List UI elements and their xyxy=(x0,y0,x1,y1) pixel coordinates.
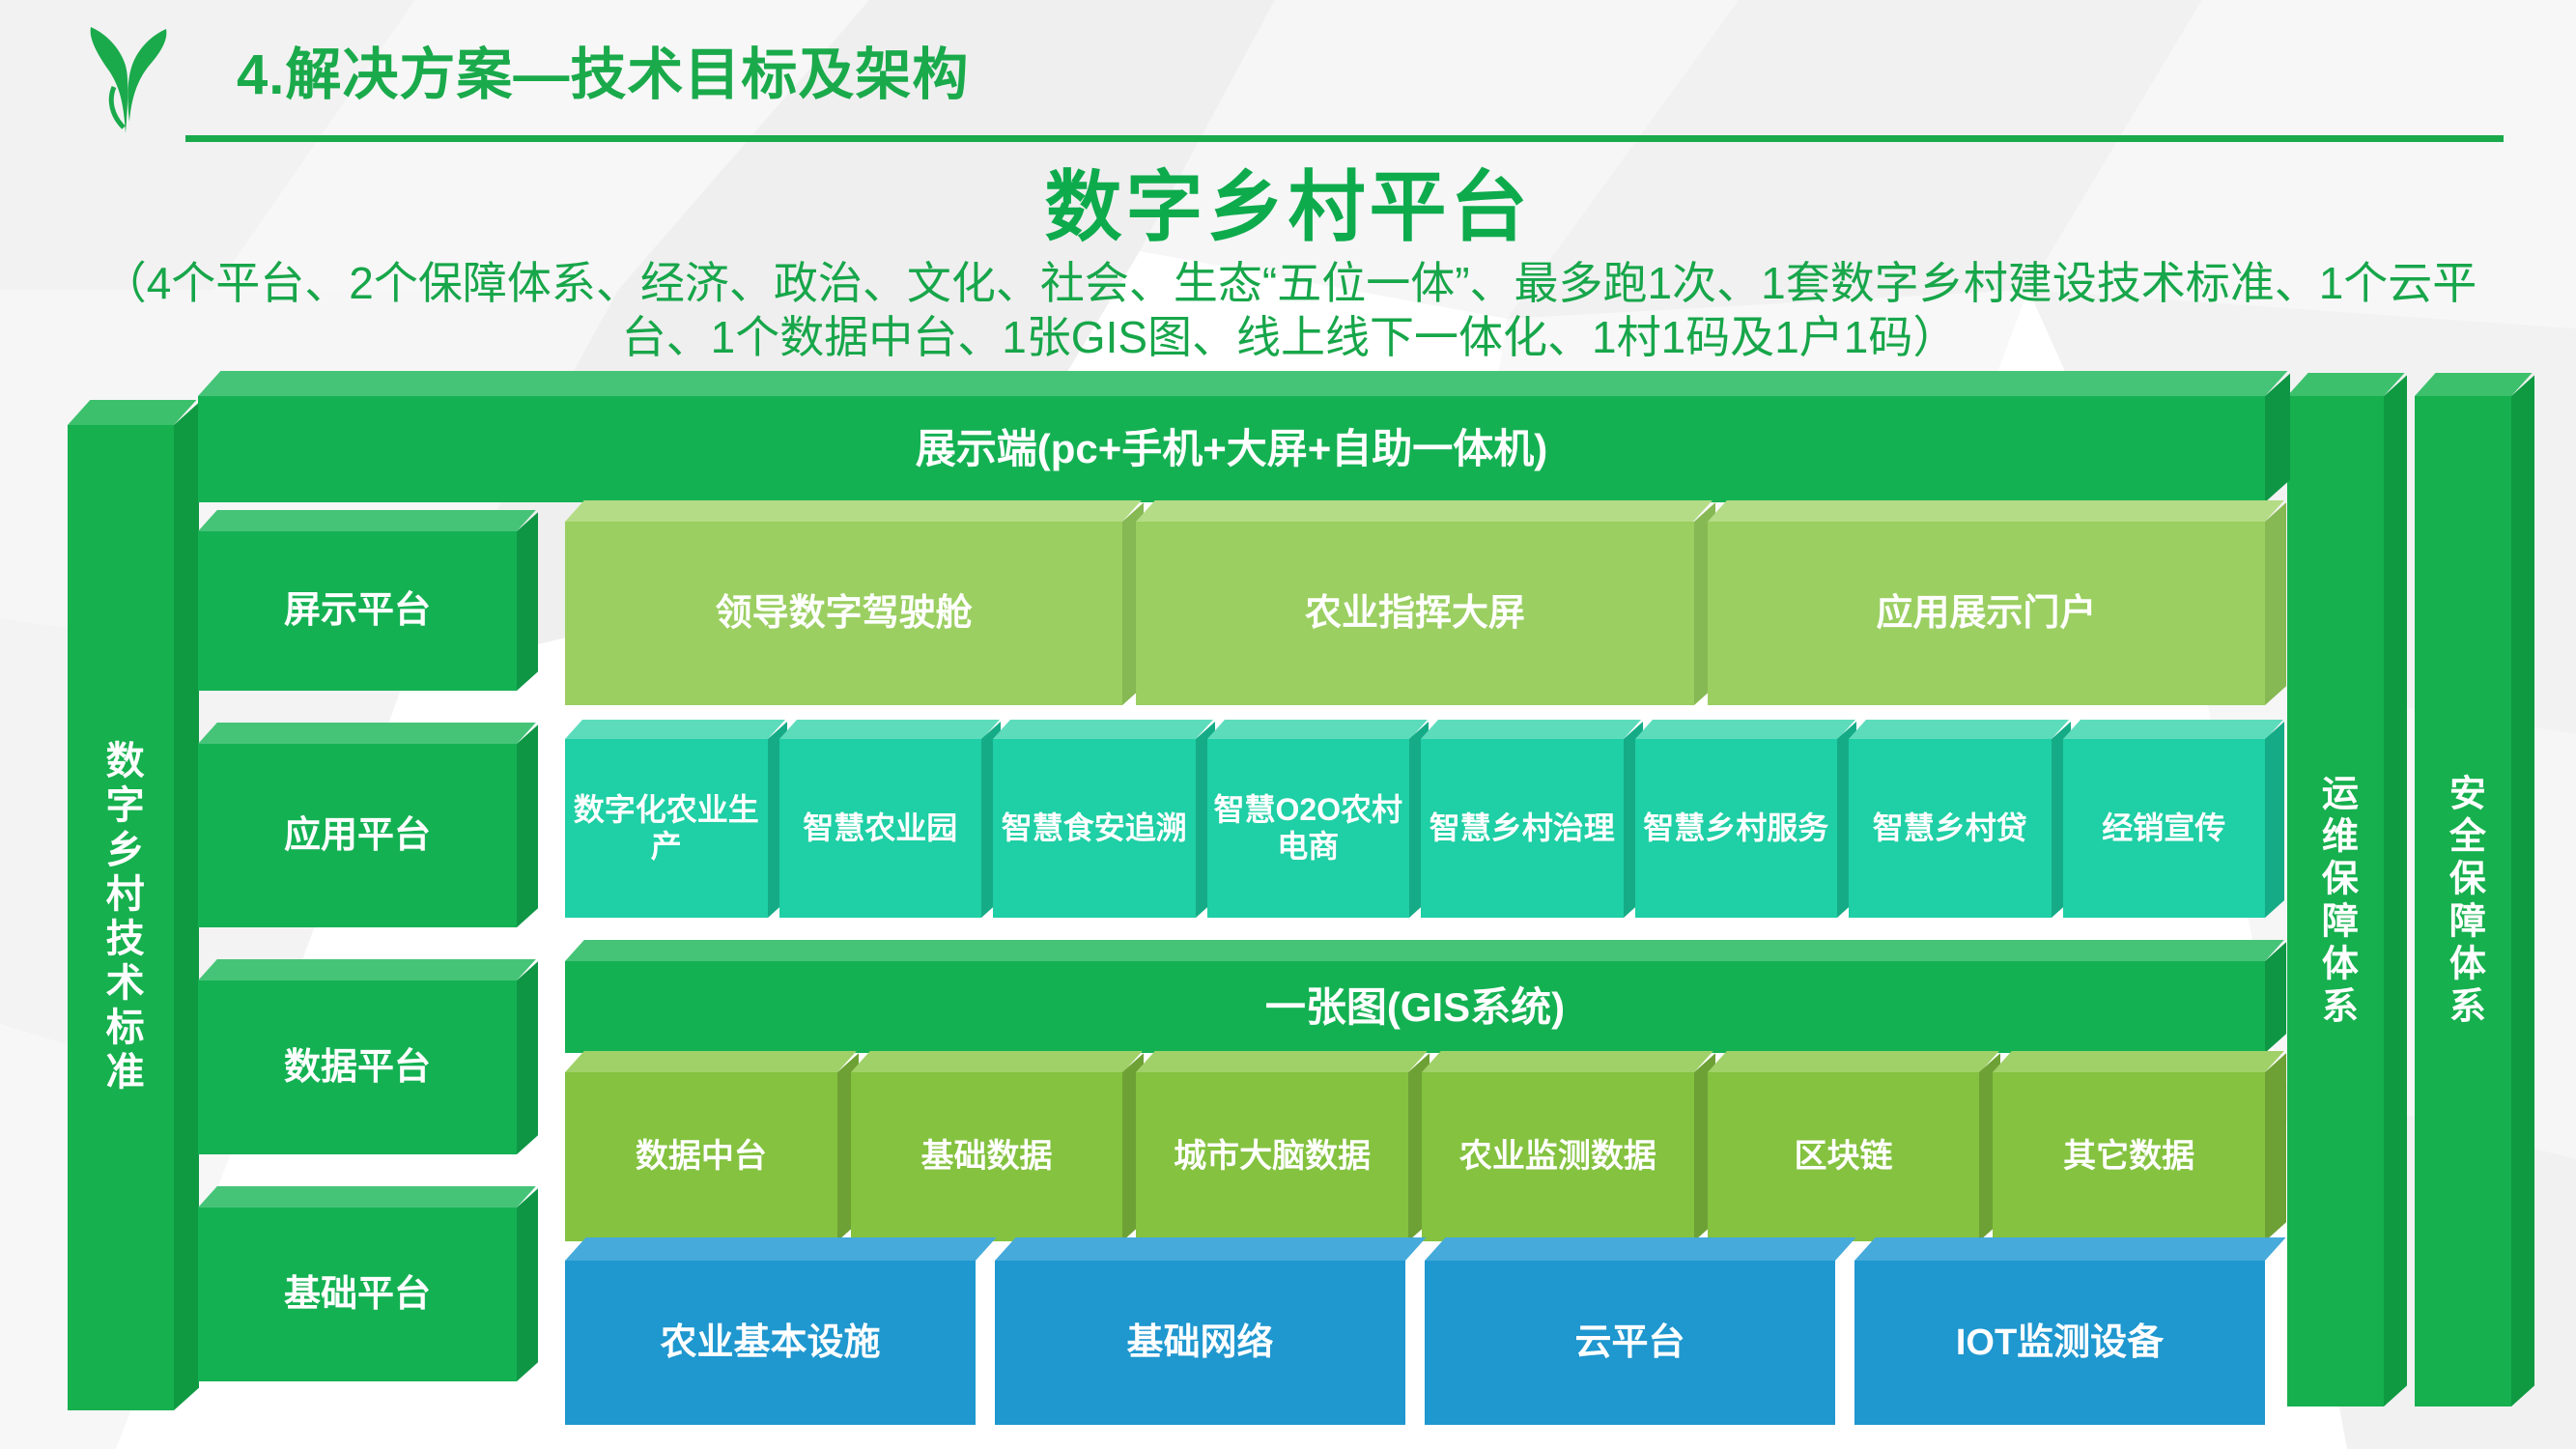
base-platform-tile[interactable]: 云平台 xyxy=(1425,1261,1835,1425)
data-platform-tile-label: 其它数据 xyxy=(2063,1137,2194,1176)
tile-top-bevel xyxy=(1849,720,2069,739)
tile-top-bevel xyxy=(565,1237,997,1261)
pillar-tech-standard-label: 数字乡村技术标准 xyxy=(98,740,143,1095)
tile-top-bevel xyxy=(1708,1051,1998,1072)
tile-top-bevel xyxy=(1635,720,1855,739)
layer-label-data-platform[interactable]: 数据平台 xyxy=(198,980,517,1154)
data-platform-tile-label: 区块链 xyxy=(1794,1137,1892,1176)
page-title: 4.解决方案—技术目标及架构 xyxy=(237,29,969,110)
subtitle-text: （4个平台、2个保障体系、经济、政治、文化、社会、生态“五位一体”、最多跑1次、… xyxy=(92,256,2487,364)
layer-label-display-platform[interactable]: 屏示平台 xyxy=(198,531,517,691)
layer-label-display-platform-text: 屏示平台 xyxy=(284,589,431,633)
layer-label-base-platform[interactable]: 基础平台 xyxy=(198,1207,517,1381)
base-platform-tile-label: IOT监测设备 xyxy=(1956,1321,2164,1365)
layer-label-base-platform-text: 基础平台 xyxy=(284,1273,431,1317)
tile-side-bevel xyxy=(2265,1239,2288,1425)
display-platform-tile-label: 农业指挥大屏 xyxy=(1305,592,1525,636)
banner-display-terminal-label: 展示端(pc+手机+大屏+自助一体机) xyxy=(916,425,1548,473)
base-platform-tile-label: 云平台 xyxy=(1574,1321,1684,1365)
application-platform-tile-label: 智慧乡村贷 xyxy=(1873,810,2027,847)
data-platform-tile-label: 基础数据 xyxy=(920,1137,1052,1176)
tile-top-bevel xyxy=(565,720,785,739)
pillar-ops-guarantee-label: 运维保障体系 xyxy=(2314,774,2358,1029)
tile-top-bevel xyxy=(1708,500,2284,522)
application-platform-tile[interactable]: 智慧乡村服务 xyxy=(1635,739,1838,918)
slide-header: 4.解决方案—技术目标及架构 xyxy=(0,0,2576,155)
data-platform-tile-label: 城市大脑数据 xyxy=(1174,1137,1371,1176)
base-platform-tile-label: 基础网络 xyxy=(1126,1321,1273,1365)
pillar-tech-standard[interactable]: 数字乡村技术标准 xyxy=(68,425,174,1410)
layer-label-application-platform[interactable]: 应用平台 xyxy=(198,744,517,927)
tile-top-bevel xyxy=(1136,500,1713,522)
application-platform-tile[interactable]: 智慧乡村贷 xyxy=(1849,739,2052,918)
tile-top-bevel xyxy=(995,1237,1427,1261)
data-platform-tile[interactable]: 农业监测数据 xyxy=(1422,1072,1694,1241)
base-platform-tile[interactable]: IOT监测设备 xyxy=(1854,1261,2265,1425)
display-platform-tile[interactable]: 农业指挥大屏 xyxy=(1136,522,1693,705)
application-platform-tile-label: 数字化农业生产 xyxy=(571,792,762,866)
data-platform-tile[interactable]: 数据中台 xyxy=(565,1072,837,1241)
application-platform-tile[interactable]: 经销宣传 xyxy=(2063,739,2266,918)
application-platform-tile-label: 智慧农业园 xyxy=(803,810,957,847)
architecture-diagram: 数字乡村技术标准 运维保障体系 安全保障体系 展示端(pc+手机+大屏+自助一体… xyxy=(0,406,2576,1449)
tile-top-bevel xyxy=(2063,720,2283,739)
application-platform-tile-label: 经销宣传 xyxy=(2102,810,2225,847)
main-title: 数字乡村平台 xyxy=(0,145,2576,257)
application-platform-tile-label: 智慧O2O农村电商 xyxy=(1213,792,1404,866)
bar-gis-system-label: 一张图(GIS系统) xyxy=(1265,983,1565,1032)
tile-side-bevel xyxy=(2265,502,2286,705)
application-platform-tile-label: 智慧食安追溯 xyxy=(1002,810,1187,847)
tile-top-bevel xyxy=(1854,1237,2286,1261)
banner-display-terminal[interactable]: 展示端(pc+手机+大屏+自助一体机) xyxy=(198,396,2265,502)
tile-top-bevel xyxy=(1421,720,1641,739)
application-platform-tile[interactable]: 智慧乡村治理 xyxy=(1421,739,1624,918)
tile-top-bevel xyxy=(779,720,1000,739)
tile-side-bevel xyxy=(2265,722,2284,918)
display-platform-tile[interactable]: 应用展示门户 xyxy=(1708,522,2265,705)
application-platform-tile[interactable]: 智慧食安追溯 xyxy=(993,739,1196,918)
display-platform-tile-label: 领导数字驾驶舱 xyxy=(716,592,973,636)
application-platform-tile-label: 智慧乡村治理 xyxy=(1430,810,1615,847)
layer-label-data-platform-text: 数据平台 xyxy=(284,1046,431,1090)
tile-top-bevel xyxy=(851,1051,1142,1072)
tile-top-bevel xyxy=(1422,1051,1713,1072)
layer-label-application-platform-text: 应用平台 xyxy=(284,814,431,858)
tile-top-bevel xyxy=(1993,1051,2283,1072)
display-platform-tile[interactable]: 领导数字驾驶舱 xyxy=(565,522,1122,705)
data-platform-tile-label: 数据中台 xyxy=(636,1137,767,1176)
application-platform-tile[interactable]: 数字化农业生产 xyxy=(565,739,768,918)
data-platform-tile[interactable]: 城市大脑数据 xyxy=(1136,1072,1408,1241)
application-platform-tile[interactable]: 智慧O2O农村电商 xyxy=(1207,739,1410,918)
base-platform-tile[interactable]: 农业基本设施 xyxy=(565,1261,976,1425)
tile-top-bevel xyxy=(1136,1051,1427,1072)
header-divider xyxy=(185,135,2504,142)
data-platform-tile-label: 农业监测数据 xyxy=(1459,1137,1656,1176)
tile-side-bevel xyxy=(2265,1053,2286,1241)
application-platform-tile-label: 智慧乡村服务 xyxy=(1643,810,1828,847)
application-platform-tile[interactable]: 智慧农业园 xyxy=(779,739,982,918)
pillar-security-guarantee[interactable]: 安全保障体系 xyxy=(2415,396,2511,1406)
pillar-ops-guarantee[interactable]: 运维保障体系 xyxy=(2287,396,2384,1406)
tile-top-bevel xyxy=(1207,720,1428,739)
tile-top-bevel xyxy=(1425,1237,1856,1261)
data-platform-tile[interactable]: 其它数据 xyxy=(1993,1072,2265,1241)
tile-top-bevel xyxy=(565,500,1142,522)
data-platform-tile[interactable]: 区块链 xyxy=(1708,1072,1980,1241)
base-platform-tile[interactable]: 基础网络 xyxy=(995,1261,1405,1425)
base-platform-tile-label: 农业基本设施 xyxy=(660,1321,880,1365)
tile-top-bevel xyxy=(993,720,1213,739)
bar-gis-system[interactable]: 一张图(GIS系统) xyxy=(565,961,2265,1053)
tile-top-bevel xyxy=(565,1051,856,1072)
leaf-icon xyxy=(70,19,185,135)
data-platform-tile[interactable]: 基础数据 xyxy=(851,1072,1123,1241)
pillar-security-guarantee-label: 安全保障体系 xyxy=(2442,774,2485,1029)
display-platform-tile-label: 应用展示门户 xyxy=(1876,592,2096,636)
